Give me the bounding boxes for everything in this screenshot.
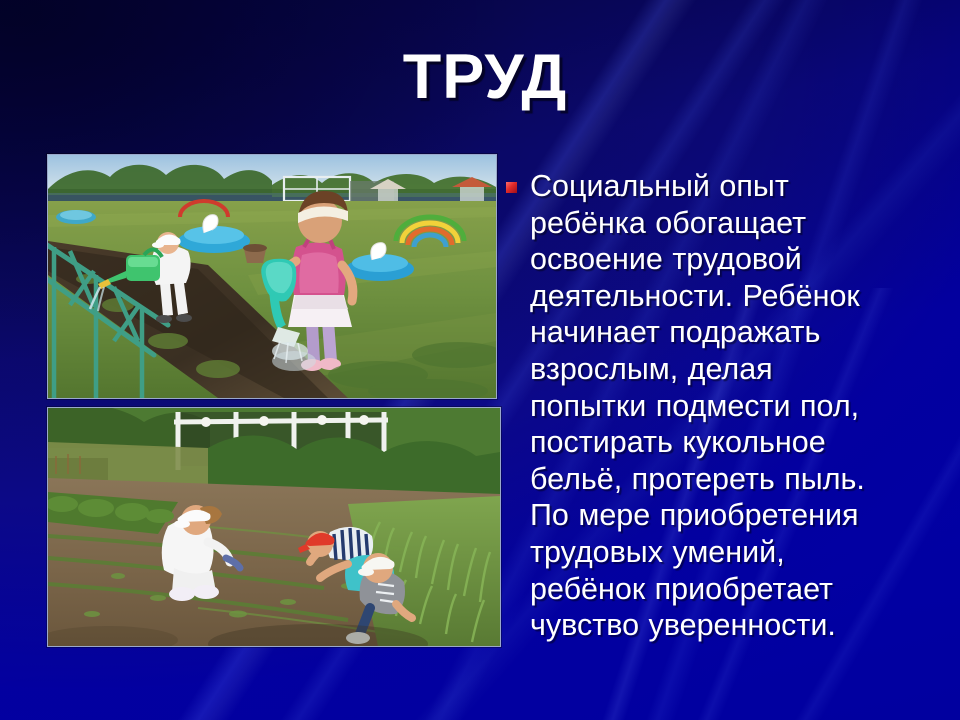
square-bullet-icon bbox=[506, 182, 517, 193]
body-line: По мере приобретения bbox=[530, 498, 859, 532]
body-line: постирать кукольное bbox=[530, 425, 826, 459]
body-paragraph: Социальный опытребёнка обогащаетосвоение… bbox=[530, 168, 942, 644]
slide-title: ТРУД bbox=[0, 46, 960, 109]
photo-bottom-image bbox=[48, 408, 500, 646]
photo-children-watering-garden bbox=[47, 154, 497, 399]
photo-top-image bbox=[48, 155, 496, 398]
body-line: деятельности. Ребёнок bbox=[530, 279, 860, 313]
content-bullet-block: Социальный опытребёнка обогащаетосвоение… bbox=[506, 168, 942, 644]
presentation-slide: ТРУД bbox=[0, 0, 960, 720]
body-line: попытки подмести пол, bbox=[530, 389, 859, 423]
body-line: бельё, протереть пыль. bbox=[530, 462, 865, 496]
photo-children-weeding-beds bbox=[47, 407, 501, 647]
body-line: трудовых умений, bbox=[530, 535, 785, 569]
body-line: ребёнок приобретает bbox=[530, 572, 833, 606]
body-line: ребёнка обогащает bbox=[530, 206, 806, 240]
body-line: освоение трудовой bbox=[530, 242, 802, 276]
body-line: чувство уверенности. bbox=[530, 608, 836, 642]
body-line: взрослым, делая bbox=[530, 352, 773, 386]
body-line: Социальный опыт bbox=[530, 169, 789, 203]
body-line: начинает подражать bbox=[530, 315, 820, 349]
